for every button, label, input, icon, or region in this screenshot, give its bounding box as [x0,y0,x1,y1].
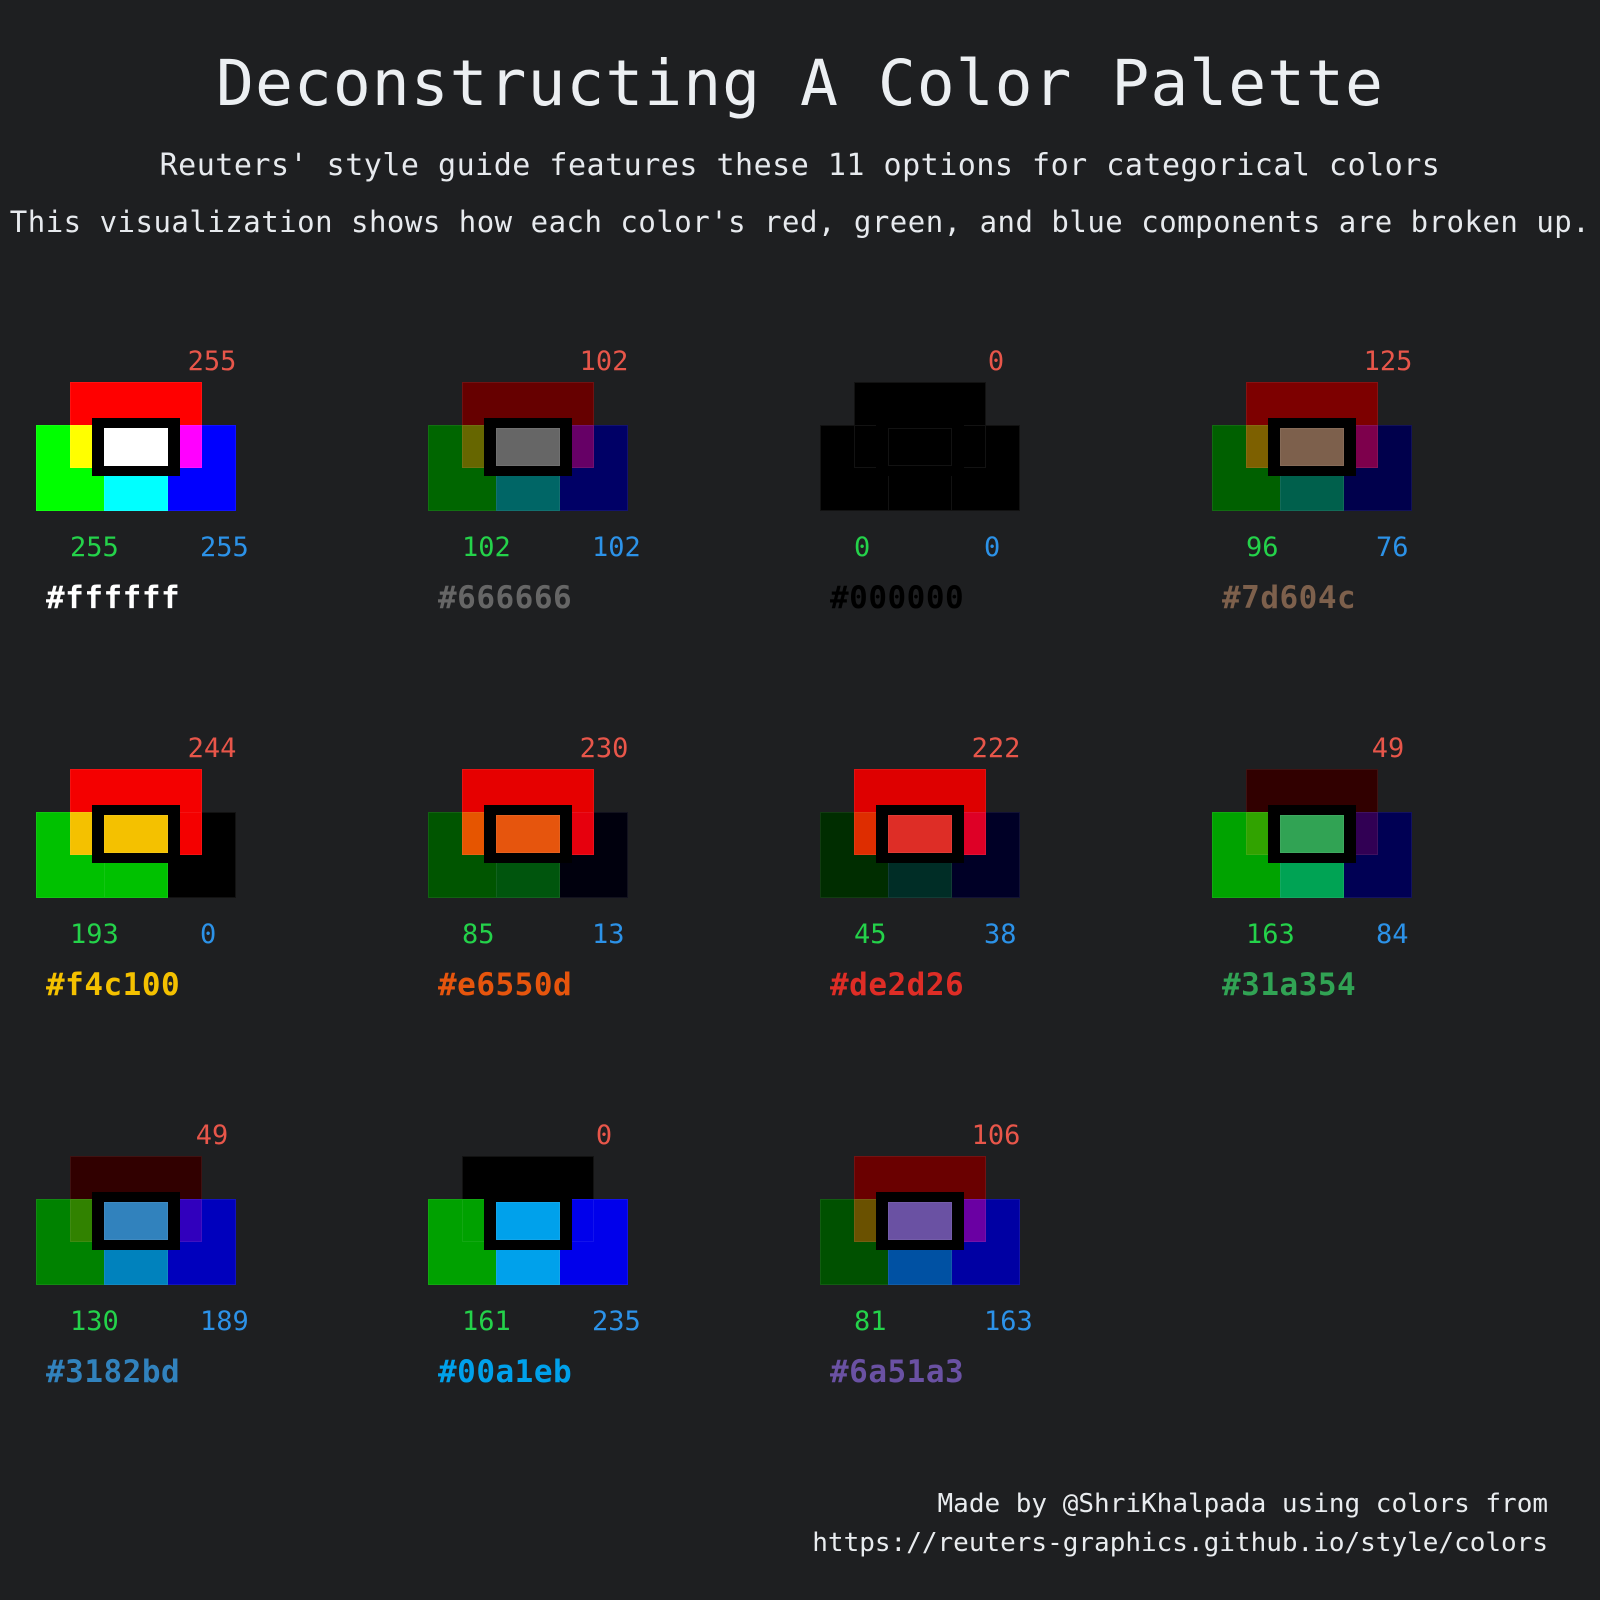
color-swatch-card: 4916384#31a354 [1192,705,1584,1092]
blue-value-label: 0 [200,921,216,948]
result-color-center [888,1202,952,1240]
color-swatch-card: 10681163#6a51a3 [800,1092,1192,1479]
color-swatch-grid: 255255255#ffffff102102102#666666000#0000… [0,318,1600,1479]
result-color-center [496,1202,560,1240]
color-swatch-card: 2308513#e6550d [408,705,800,1092]
rgb-venn-diagram [1212,382,1442,528]
subtitle-line-1: Reuters' style guide features these 11 o… [0,120,1600,183]
green-value-label: 255 [70,534,119,561]
hex-code-label: #6a51a3 [830,1354,964,1390]
blue-value-label: 102 [592,534,641,561]
result-color-center [496,428,560,466]
red-value-label: 125 [1364,348,1413,375]
hex-code-label: #00a1eb [438,1354,572,1390]
hex-code-label: #e6550d [438,967,572,1003]
result-color-center [888,815,952,853]
blue-value-label: 38 [984,921,1017,948]
color-swatch-card: 49130189#3182bd [16,1092,408,1479]
footer-credit: Made by @ShriKhalpada using colors from … [812,1485,1548,1564]
blue-value-label: 76 [1376,534,1409,561]
rgb-venn-diagram [428,1156,658,1302]
result-color-center [1280,815,1344,853]
color-swatch-card: 000#000000 [800,318,1192,705]
result-color-center [888,428,952,466]
green-value-label: 81 [854,1308,887,1335]
hex-code-label: #7d604c [1222,580,1356,616]
rgb-venn-diagram [820,1156,1050,1302]
color-swatch-card: 2224538#de2d26 [800,705,1192,1092]
color-swatch-card: 0161235#00a1eb [408,1092,800,1479]
green-value-label: 163 [1246,921,1295,948]
color-swatch-card: 2441930#f4c100 [16,705,408,1092]
page-title: Deconstructing A Color Palette [0,48,1600,120]
green-value-label: 193 [70,921,119,948]
rgb-venn-diagram [428,382,658,528]
color-swatch-card: 102102102#666666 [408,318,800,705]
hex-code-label: #666666 [438,580,572,616]
green-value-label: 96 [1246,534,1279,561]
rgb-venn-diagram [36,382,266,528]
red-value-label: 222 [972,735,1021,762]
red-value-label: 230 [580,735,629,762]
result-color-center [1280,428,1344,466]
rgb-venn-diagram [36,1156,266,1302]
green-value-label: 102 [462,534,511,561]
red-value-label: 255 [188,348,237,375]
result-color-center [496,815,560,853]
red-value-label: 0 [596,1122,612,1149]
blue-value-label: 235 [592,1308,641,1335]
hex-code-label: #f4c100 [46,967,180,1003]
red-value-label: 0 [988,348,1004,375]
rgb-venn-diagram [820,769,1050,915]
blue-value-label: 84 [1376,921,1409,948]
green-value-label: 0 [854,534,870,561]
red-value-label: 49 [1372,735,1405,762]
blue-value-label: 163 [984,1308,1033,1335]
red-value-label: 49 [196,1122,229,1149]
green-value-label: 45 [854,921,887,948]
hex-code-label: #31a354 [1222,967,1356,1003]
footer-line-2: https://reuters-graphics.github.io/style… [812,1524,1548,1564]
rgb-venn-diagram [36,769,266,915]
hex-code-label: #de2d26 [830,967,964,1003]
hex-code-label: #3182bd [46,1354,180,1390]
green-value-label: 161 [462,1308,511,1335]
red-value-label: 102 [580,348,629,375]
blue-value-label: 189 [200,1308,249,1335]
blue-value-label: 255 [200,534,249,561]
rgb-venn-diagram [1212,769,1442,915]
blue-value-label: 13 [592,921,625,948]
blue-value-label: 0 [984,534,1000,561]
result-color-center [104,815,168,853]
header: Deconstructing A Color Palette Reuters' … [0,0,1600,239]
hex-code-label: #000000 [830,580,964,616]
footer-line-1: Made by @ShriKhalpada using colors from [812,1485,1548,1525]
green-value-label: 85 [462,921,495,948]
result-color-center [104,1202,168,1240]
result-color-center [104,428,168,466]
subtitle-line-2: This visualization shows how each color'… [0,183,1600,239]
rgb-venn-diagram [428,769,658,915]
color-swatch-card: 255255255#ffffff [16,318,408,705]
red-value-label: 244 [188,735,237,762]
color-swatch-card: 1259676#7d604c [1192,318,1584,705]
red-value-label: 106 [972,1122,1021,1149]
green-value-label: 130 [70,1308,119,1335]
rgb-venn-diagram [820,382,1050,528]
hex-code-label: #ffffff [46,580,180,616]
